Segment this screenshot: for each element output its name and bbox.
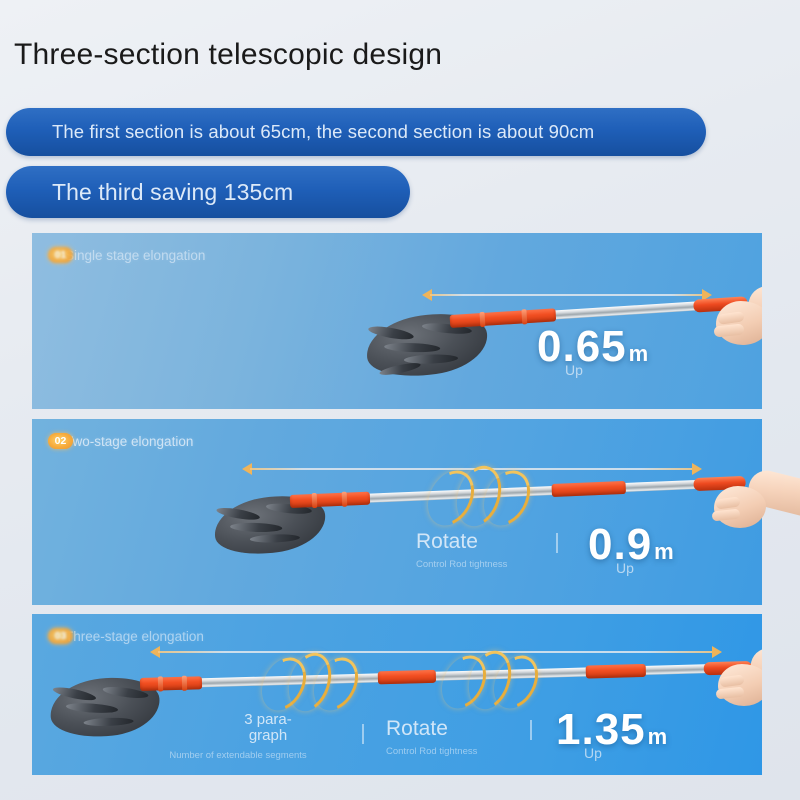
pole-red-section [290,492,370,508]
rotation-spiral-icon-2 [430,465,540,529]
hand-holding-pole-1 [704,285,762,351]
caption-segments-3-line1: 3 para- [220,712,316,728]
pole-collar [182,676,187,691]
pole-chrome-section [550,301,700,319]
measurement-2-unit: m [654,539,674,564]
measurement-1-unit: m [629,341,649,366]
pole-collar [342,492,348,507]
step-badge-02: 02 [48,433,73,449]
panel-3-header: 03 Three-stage elongation [48,628,204,644]
pole-chrome-section [640,664,712,675]
banner-third-section-text: The third saving 135cm [6,179,293,206]
caption-rotate-3-sublabel: Control Rod tightness [386,746,477,757]
measurement-2-sublabel: Up [616,561,634,575]
step-badge-03: 03 [48,628,73,644]
caption-rotate-3: Rotate Control Rod tightness [386,718,477,757]
measurement-3-sublabel: Up [584,746,602,760]
banner-third-section: The third saving 135cm [6,166,410,218]
pole-red-section [378,670,436,685]
hand-holding-pole-2 [704,470,800,534]
page-title: Three-section telescopic design [14,38,442,72]
banner-first-second-section-text: The first section is about 65cm, the sec… [6,121,594,143]
caption-segments-3: 3 para- graph Number of extendable segme… [220,712,316,761]
pole-chrome-section [620,480,702,492]
caption-rotate-2-sublabel: Control Rod tightness [416,559,507,570]
panel-single-stage: 01 Single stage elongation 0.65m Up [32,233,762,409]
caption-rotate-2-label: Rotate [416,531,507,553]
panel-1-header: 01 Single stage elongation [48,247,205,263]
caption-rotate-2: Rotate Control Rod tightness [416,531,507,570]
measurement-3: 1.35m Up [556,708,667,752]
pole-red-section [140,676,202,691]
panel-two-stage: 02 Two-stage elongation Rotate Control R… [32,419,762,605]
measurement-3-unit: m [648,724,668,749]
pole-red-section [586,664,646,679]
panel-3-heading: Three-stage elongation [65,629,204,644]
rotation-spiral-icon-3a [264,652,366,714]
measurement-1-sublabel: Up [565,363,583,377]
arrow-line [158,651,714,653]
length-arrow-1 [422,289,712,301]
panel-2-header: 02 Two-stage elongation [48,433,193,449]
pole-collar [312,493,318,508]
measurement-2: 0.9m Up [588,523,674,567]
panel-1-heading: Single stage elongation [65,248,205,263]
caption-divider [530,720,532,740]
panel-three-stage: 03 Three-stage elongation 3 para- [32,614,762,775]
rotation-spiral-icon-3b [444,650,546,712]
measurement-1: 0.65m Up [537,325,648,369]
length-arrow-3 [150,646,722,658]
caption-divider [362,724,364,744]
caption-divider [556,533,558,553]
hand-holding-pole-3 [704,650,762,716]
arrow-tip-right-icon [692,463,702,475]
pole-collar [521,309,527,324]
banner-first-second-section: The first section is about 65cm, the sec… [6,108,706,156]
step-badge-01: 01 [48,247,73,263]
caption-rotate-3-label: Rotate [386,718,477,740]
caption-segments-3-sublabel: Number of extendable segments [160,750,316,761]
pole-collar [479,312,485,327]
panel-2-heading: Two-stage elongation [65,434,193,449]
pole-red-section [551,481,625,497]
pole-collar [158,676,163,691]
arrow-line [430,294,704,296]
caption-segments-3-line2: graph [220,728,316,744]
